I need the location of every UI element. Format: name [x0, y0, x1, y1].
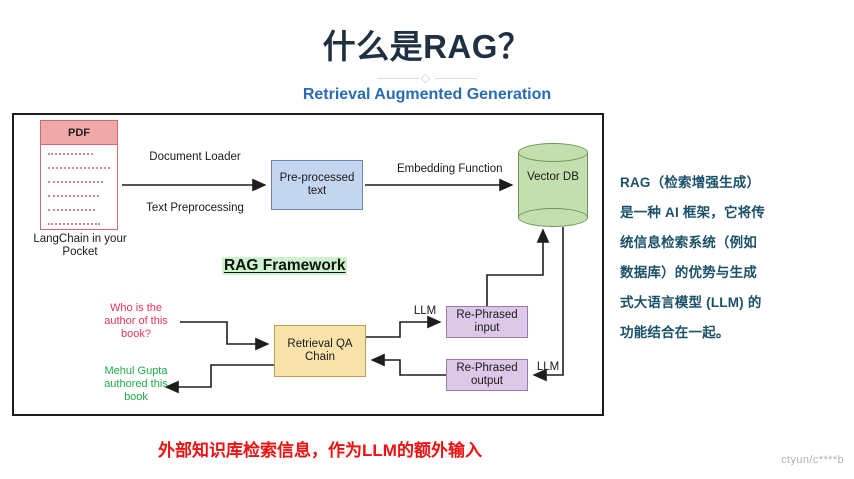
- example-answer-text: Mehul Gupta authored this book: [94, 365, 178, 404]
- pdf-line: [48, 167, 110, 169]
- pdf-document-icon: PDF: [40, 120, 118, 230]
- example-question-text: Who is the author of this book?: [94, 302, 178, 341]
- pdf-text-lines: [41, 145, 117, 225]
- page-title: 什么是RAG？: [0, 20, 854, 68]
- rag-framework-label: RAG Framework: [222, 257, 347, 275]
- edge-label-llm-input: LLM: [410, 305, 440, 318]
- node-retrieval-qa-chain: Retrieval QA Chain: [274, 325, 366, 377]
- explanation-panel: RAG（检索增强生成） 是一种 AI 框架，它将传 统信息检索系统（例如 数据库…: [620, 168, 845, 348]
- divider-line-left: [377, 78, 419, 79]
- node-rephrased-output: Re-Phrased output: [446, 359, 528, 391]
- edge-label-llm-output: LLM: [533, 361, 563, 374]
- panel-line: 统信息检索系统（例如: [620, 228, 845, 258]
- node-vector-db: Vector DB: [518, 143, 588, 227]
- page-subtitle: Retrieval Augmented Generation: [0, 86, 854, 104]
- pdf-caption: LangChain in your Pocket: [32, 233, 128, 259]
- node-rephrased-input: Re-Phrased input: [446, 306, 528, 338]
- edge-label-embedding-function: Embedding Function: [397, 163, 493, 176]
- bottom-caption: 外部知识库检索信息，作为LLM的额外输入: [0, 436, 640, 461]
- edge-label-text-preprocessing: Text Preprocessing: [145, 202, 245, 215]
- panel-line: RAG（检索增强生成）: [620, 168, 845, 198]
- pdf-line: [48, 209, 95, 211]
- pdf-line: [48, 195, 99, 197]
- divider-diamond-icon: [421, 74, 431, 84]
- pdf-header-label: PDF: [41, 121, 117, 145]
- vector-db-label: Vector DB: [518, 171, 588, 184]
- panel-line: 功能结合在一起。: [620, 318, 845, 348]
- slide-canvas: 什么是RAG？ Retrieval Augmented Generation: [0, 0, 854, 479]
- pdf-line: [48, 153, 93, 155]
- cylinder-top: [518, 143, 588, 162]
- title-divider-ornament: [377, 74, 477, 83]
- pdf-line: [48, 181, 103, 183]
- node-preprocessed-text: Pre-processed text: [271, 160, 363, 210]
- rag-diagram: PDF LangChain in your Pocket Document Lo…: [12, 113, 604, 416]
- divider-line-right: [435, 78, 477, 79]
- panel-line: 数据库）的优势与生成: [620, 258, 845, 288]
- pdf-line: [48, 223, 100, 225]
- cylinder-bottom: [518, 208, 588, 227]
- panel-line: 式大语言模型 (LLM) 的: [620, 288, 845, 318]
- panel-line: 是一种 AI 框架，它将传: [620, 198, 845, 228]
- edge-label-document-loader: Document Loader: [147, 151, 243, 164]
- watermark: ctyun/c****b: [781, 454, 844, 466]
